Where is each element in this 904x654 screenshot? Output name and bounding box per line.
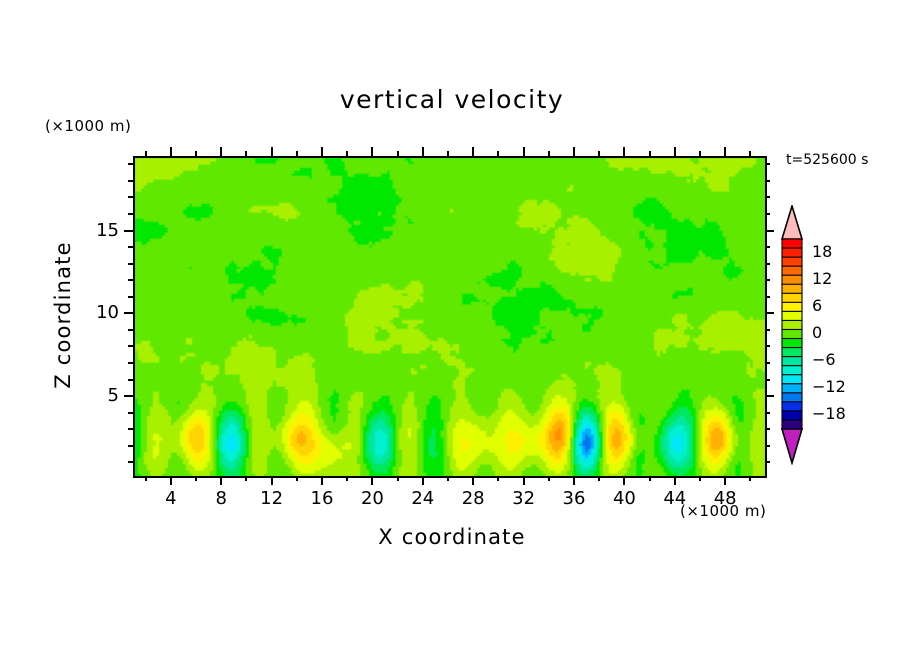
x-tick-top: [447, 151, 449, 156]
x-tick-major: [220, 476, 222, 485]
y-tick-right: [765, 230, 774, 232]
y-tick-minor: [128, 445, 133, 447]
x-tick-top: [573, 147, 575, 156]
x-tick-top: [724, 147, 726, 156]
y-tick-major: [124, 230, 133, 232]
y-tick-minor: [128, 428, 133, 430]
colorbar-band: [782, 275, 802, 284]
colorbar-tick-label: 6: [812, 296, 822, 315]
colorbar-tick-label: −18: [812, 404, 846, 423]
colorbar-upper-arrow: [782, 206, 802, 239]
x-tick-top: [145, 151, 147, 156]
y-tick-minor: [128, 461, 133, 463]
x-tick-minor: [699, 476, 701, 481]
y-tick-right: [765, 362, 770, 364]
y-tick-label: 10: [73, 302, 119, 323]
x-tick-major: [573, 476, 575, 485]
x-tick-top: [245, 151, 247, 156]
colorbar-band: [782, 411, 802, 420]
colorbar-band: [782, 348, 802, 357]
x-tick-minor: [397, 476, 399, 481]
colorbar-band: [782, 248, 802, 257]
y-tick-minor: [128, 412, 133, 414]
x-tick-label: 32: [501, 488, 547, 509]
page-title: vertical velocity: [0, 85, 904, 114]
y-tick-right: [765, 180, 770, 182]
x-tick-top: [346, 151, 348, 156]
colorbar-band: [782, 239, 802, 248]
y-tick-right: [765, 196, 770, 198]
x-tick-label: 20: [349, 488, 395, 509]
y-tick-right: [765, 296, 770, 298]
x-axis-title: X coordinate: [0, 525, 904, 549]
x-tick-minor: [548, 476, 550, 481]
x-tick-top: [321, 147, 323, 156]
colorbar-band: [782, 302, 802, 311]
colorbar-swatches: [779, 205, 805, 465]
y-tick-right: [765, 163, 770, 165]
colorbar-band: [782, 420, 802, 429]
colorbar-band: [782, 375, 802, 384]
y-tick-minor: [128, 279, 133, 281]
colorbar-band: [782, 257, 802, 266]
x-tick-top: [523, 147, 525, 156]
x-tick-minor: [245, 476, 247, 481]
colorbar-band: [782, 384, 802, 393]
y-tick-right: [765, 445, 770, 447]
y-tick-minor: [128, 196, 133, 198]
contour-field: [135, 158, 765, 476]
y-tick-label: 5: [73, 385, 119, 406]
colorbar-lower-arrow: [782, 429, 802, 463]
y-tick-minor: [128, 163, 133, 165]
x-tick-label: 40: [601, 488, 647, 509]
x-tick-top: [674, 147, 676, 156]
x-tick-minor: [195, 476, 197, 481]
y-tick-right: [765, 213, 770, 215]
x-tick-minor: [497, 476, 499, 481]
colorbar-band: [782, 266, 802, 275]
y-tick-right: [765, 412, 770, 414]
x-tick-label: 28: [450, 488, 496, 509]
x-tick-top: [699, 151, 701, 156]
x-tick-major: [422, 476, 424, 485]
y-tick-right: [765, 395, 774, 397]
figure-canvas: vertical velocity (×1000 m) t=525600 s 4…: [0, 0, 904, 654]
x-axis-units-label: (×1000 m): [680, 502, 766, 520]
colorbar: [779, 205, 805, 463]
x-tick-label: 12: [249, 488, 295, 509]
y-tick-major: [124, 395, 133, 397]
y-tick-right: [765, 461, 770, 463]
x-tick-minor: [649, 476, 651, 481]
colorbar-band: [782, 393, 802, 402]
colorbar-band: [782, 311, 802, 320]
x-tick-top: [422, 147, 424, 156]
x-tick-top: [548, 151, 550, 156]
y-tick-right: [765, 263, 770, 265]
x-tick-major: [321, 476, 323, 485]
colorbar-band: [782, 357, 802, 366]
x-tick-minor: [749, 476, 751, 481]
x-tick-minor: [598, 476, 600, 481]
colorbar-tick-label: −6: [812, 350, 836, 369]
y-tick-minor: [128, 246, 133, 248]
x-tick-major: [674, 476, 676, 485]
x-tick-top: [749, 151, 751, 156]
contour-plot-area: [133, 156, 767, 478]
y-tick-right: [765, 379, 770, 381]
x-tick-top: [371, 147, 373, 156]
y-tick-minor: [128, 379, 133, 381]
x-tick-top: [170, 147, 172, 156]
colorbar-band: [782, 284, 802, 293]
colorbar-band: [782, 293, 802, 302]
x-tick-top: [472, 147, 474, 156]
y-tick-minor: [128, 296, 133, 298]
colorbar-tick-label: −12: [812, 377, 846, 396]
y-tick-major: [124, 312, 133, 314]
x-tick-major: [472, 476, 474, 485]
x-tick-top: [397, 151, 399, 156]
y-tick-right: [765, 329, 770, 331]
y-axis-title: Z coordinate: [51, 215, 75, 415]
x-tick-major: [271, 476, 273, 485]
y-tick-minor: [128, 213, 133, 215]
x-tick-major: [724, 476, 726, 485]
x-tick-top: [220, 147, 222, 156]
x-tick-major: [170, 476, 172, 485]
y-tick-label: 15: [73, 220, 119, 241]
x-tick-top: [598, 151, 600, 156]
x-tick-top: [649, 151, 651, 156]
x-tick-top: [195, 151, 197, 156]
x-tick-major: [523, 476, 525, 485]
y-tick-right: [765, 345, 770, 347]
y-tick-minor: [128, 180, 133, 182]
colorbar-tick-label: 12: [812, 269, 832, 288]
y-tick-right: [765, 428, 770, 430]
y-tick-right: [765, 312, 774, 314]
y-axis-units-label: (×1000 m): [45, 117, 131, 135]
x-tick-top: [623, 147, 625, 156]
x-tick-minor: [145, 476, 147, 481]
x-tick-top: [296, 151, 298, 156]
x-tick-label: 24: [400, 488, 446, 509]
x-tick-top: [271, 147, 273, 156]
colorbar-band: [782, 320, 802, 329]
x-tick-top: [497, 151, 499, 156]
x-tick-label: 8: [198, 488, 244, 509]
colorbar-band: [782, 402, 802, 411]
colorbar-tick-label: 0: [812, 323, 822, 342]
x-tick-minor: [346, 476, 348, 481]
y-tick-minor: [128, 263, 133, 265]
x-tick-label: 4: [148, 488, 194, 509]
colorbar-band: [782, 329, 802, 338]
x-tick-label: 16: [299, 488, 345, 509]
y-tick-minor: [128, 329, 133, 331]
colorbar-tick-label: 18: [812, 242, 832, 261]
timestamp-label: t=525600 s: [786, 152, 868, 168]
x-tick-major: [371, 476, 373, 485]
x-tick-minor: [447, 476, 449, 481]
x-tick-label: 36: [551, 488, 597, 509]
x-tick-major: [623, 476, 625, 485]
y-tick-minor: [128, 345, 133, 347]
y-tick-right: [765, 246, 770, 248]
x-tick-minor: [296, 476, 298, 481]
colorbar-band: [782, 366, 802, 375]
y-tick-minor: [128, 362, 133, 364]
y-tick-right: [765, 279, 770, 281]
colorbar-band: [782, 339, 802, 348]
